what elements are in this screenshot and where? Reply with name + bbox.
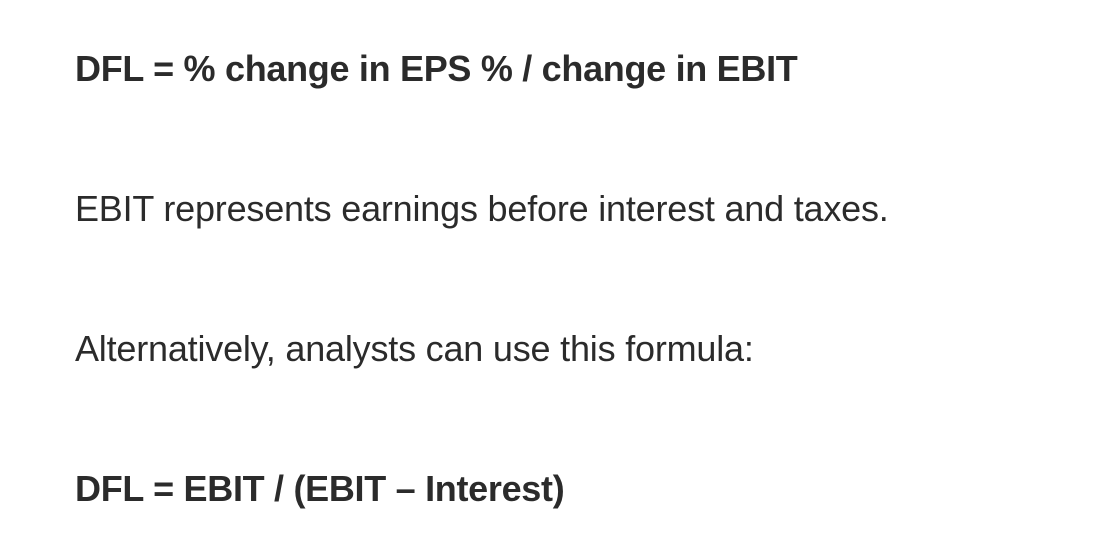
document-page: DFL = % change in EPS % / change in EBIT… xyxy=(0,0,1114,554)
formula-dfl-percent-change: DFL = % change in EPS % / change in EBIT xyxy=(75,46,1074,92)
definition-ebit: EBIT represents earnings before interest… xyxy=(75,186,1074,232)
document-body: DFL = % change in EPS % / change in EBIT… xyxy=(75,46,1074,512)
intro-alternative-formula: Alternatively, analysts can use this for… xyxy=(75,326,1074,372)
formula-dfl-ebit-interest: DFL = EBIT / (EBIT – Interest) xyxy=(75,466,1074,512)
